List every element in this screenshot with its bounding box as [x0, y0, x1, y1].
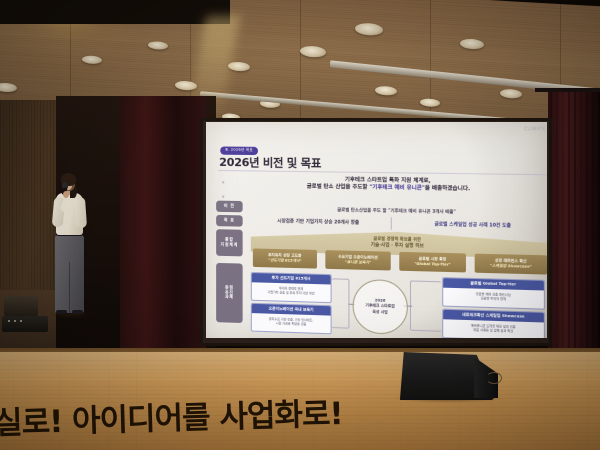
gold-box-3-line2: "스케일업 Showcase"	[490, 264, 532, 270]
stage-curtain-left	[120, 96, 206, 364]
floor-light-reflection	[0, 352, 600, 382]
floor-banner-text: 실로! 아이디어를 사업화로!	[0, 390, 265, 443]
right-task-box-1-body: 예비유니콘 도약을 위한 성과 검증 대표 사례화 및 정책 성과 확산	[443, 319, 544, 337]
ceiling-dark-edge	[0, 0, 230, 24]
slide-title: 2026년 비전 및 목표	[219, 154, 321, 172]
center-circle: 2026 기후테크 스타트업 육성 사업	[353, 279, 408, 335]
curtain-rod	[535, 88, 600, 92]
photo-scene: CLIMATE TECH Ⅲ. 2026년 목표 2026년 비전 및 목표 기…	[0, 0, 600, 450]
gold-box-0: 투자유치 성장 고도화 "선도기업 815개사"	[253, 248, 317, 268]
equipment-led	[14, 320, 16, 322]
equipment-led	[8, 320, 10, 322]
row-label-goal: 목 표	[216, 215, 242, 227]
presenter-shoe-right	[72, 310, 83, 314]
microphone-head	[62, 182, 68, 188]
lead2-post: 을 배출하겠습니다.	[425, 185, 470, 192]
gold-box-2-line2: "Global Top-Tier"	[414, 262, 450, 268]
row-label-support-system: 통합 지원체계	[216, 229, 242, 256]
gold-box-1-line2: "유니콘 보육기"	[345, 260, 371, 266]
stage-monitor-handle	[486, 372, 502, 384]
title-divider	[218, 170, 547, 175]
right-task-box-0: 글로벌 Global Top-tier 글로벌 해외 실증 파트너십 글로벌 투…	[442, 277, 545, 310]
left-task-box-0-body: 투자자 전략적 연계 기업가치 상승 및 후속 투자 기반 마련	[252, 282, 331, 299]
gold-box-1: 수요기업 오픈이노베이션 "유니콘 보육기"	[325, 250, 390, 270]
goal-left-text: 시장검증 기반 기업가치 상승 20개사 창출	[251, 218, 387, 227]
lead2-pre: 글로벌 탄소 산업을 주도할	[307, 184, 370, 191]
gold-box-2: 글로벌 시장 확장 "Global Top-Tier"	[399, 252, 466, 273]
row-label-key-tasks: 중점 추진 과제	[216, 263, 242, 323]
lead2-highlight: "기후테크 예비 유니콘"	[369, 184, 424, 191]
av-equipment-rack	[4, 296, 38, 316]
left-task-box-1: 오픈이노베이션 국내 보육기 유지수요 기반 실증, 기술 인사이트, 시장 기…	[251, 303, 332, 335]
bullet-dot	[222, 196, 224, 198]
left-task-box-0: 투자 선도기업 815개사 투자자 전략적 연계 기업가치 상승 및 후속 투자…	[251, 272, 332, 303]
bullet-dot	[222, 181, 224, 183]
left-brace	[332, 278, 350, 328]
goal-right-text: 글로벌 스케일업 성공 사례 10건 도출	[399, 220, 547, 229]
equipment-led	[20, 320, 22, 322]
vision-statement: 글로벌 탄소산업을 주도 할 "기후테크 예비 유니콘 3개사 배출"	[255, 205, 543, 216]
right-task-box-0-body: 글로벌 해외 실증 파트너십 글로벌 투자자 연계	[443, 288, 544, 306]
goal-divider	[391, 217, 392, 230]
left-task-box-1-body: 유지수요 기반 실증, 기술 인사이트, 시장 기회로 확장성 검증	[252, 313, 331, 330]
row-label-vision: 비 전	[216, 201, 242, 213]
presenter-hand	[63, 191, 69, 198]
right-brace	[410, 280, 441, 331]
presenter-shoe-left	[56, 310, 67, 314]
stage-curtain-right	[548, 88, 600, 370]
slide-surface: CLIMATE TECH Ⅲ. 2026년 목표 2026년 비전 및 목표 기…	[206, 122, 547, 338]
right-task-box-1: 네트워크확산 스케일업 Showcase 예비유니콘 도약을 위한 성과 검증 …	[442, 309, 545, 338]
projection-screen: CLIMATE TECH Ⅲ. 2026년 목표 2026년 비전 및 목표 기…	[206, 122, 547, 338]
presenter-sleeve-right	[74, 197, 87, 229]
av-equipment-case	[2, 316, 48, 332]
gold-box-3: 성장 레퍼런스 확산 "스케일업 Showcase"	[475, 254, 547, 275]
gold-box-0-line2: "선도기업 815개사"	[268, 258, 301, 264]
presenter-trousers-crease	[69, 262, 70, 313]
slide-logo: CLIMATE TECH	[524, 126, 547, 132]
